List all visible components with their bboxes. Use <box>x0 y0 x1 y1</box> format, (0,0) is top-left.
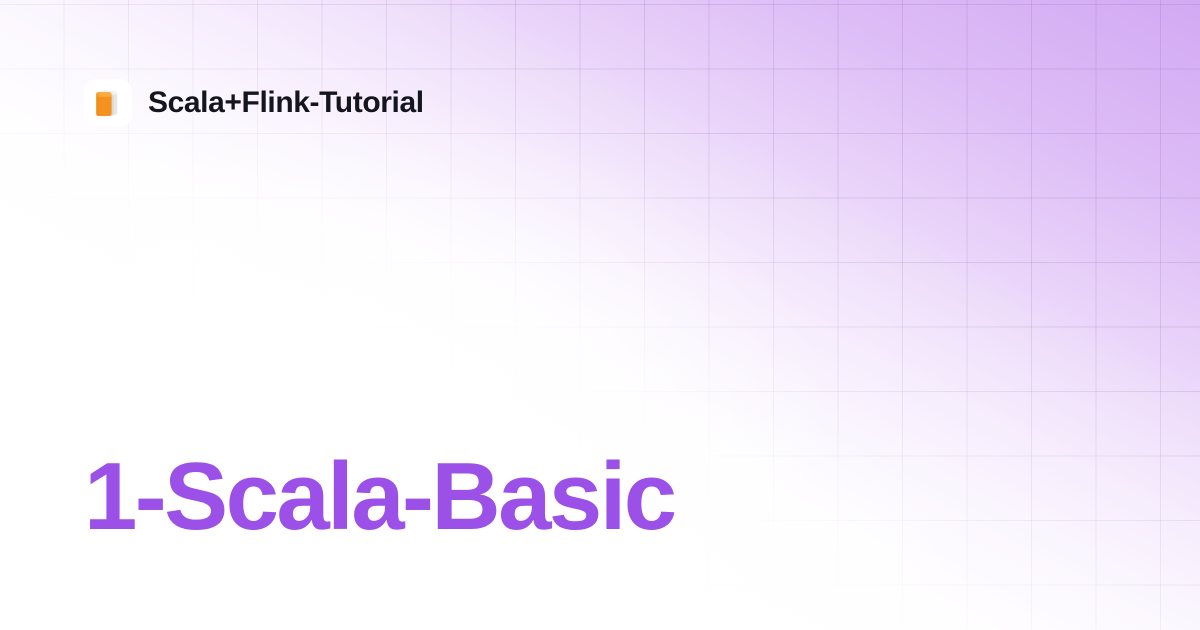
page-title: 1-Scala-Basic <box>84 449 675 545</box>
card-content: Scala+Flink-Tutorial 1-Scala-Basic <box>0 0 1200 630</box>
orange-book-icon <box>91 86 125 120</box>
og-card: Scala+Flink-Tutorial 1-Scala-Basic <box>0 0 1200 630</box>
brand-header: Scala+Flink-Tutorial <box>84 79 424 127</box>
brand-icon-container <box>84 79 132 127</box>
brand-name: Scala+Flink-Tutorial <box>148 88 424 118</box>
